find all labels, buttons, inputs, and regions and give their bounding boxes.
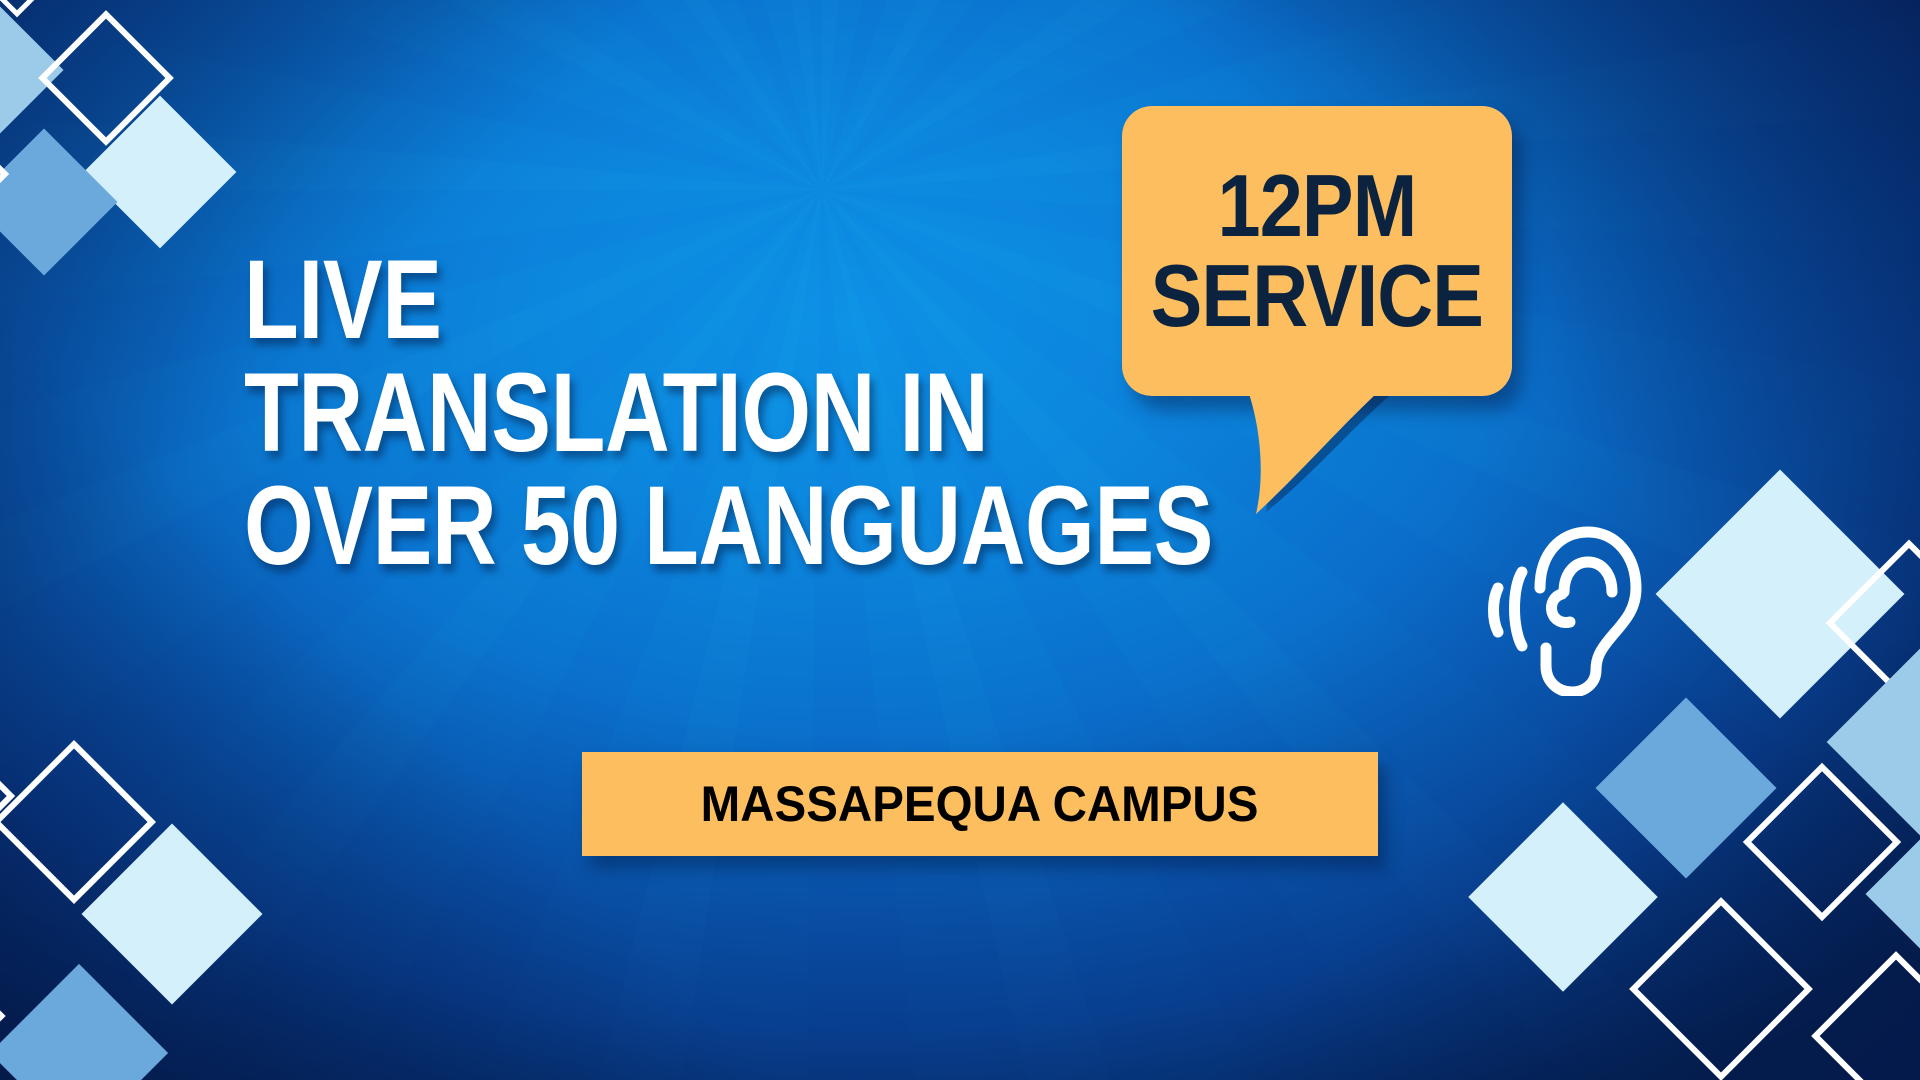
service-time-badge: 12PM SERVICE (1122, 106, 1522, 506)
headline-line-3: OVER 50 LANGUAGES (244, 474, 1252, 577)
deco-square (0, 964, 168, 1080)
ear-hearing-icon (1484, 518, 1652, 696)
badge-body: 12PM SERVICE (1122, 106, 1512, 396)
deco-square-outline (1811, 951, 1920, 1080)
deco-square (0, 128, 118, 275)
deco-square-outline (1629, 897, 1813, 1080)
deco-square-outline (0, 717, 15, 875)
deco-square-outline (0, 0, 69, 17)
campus-label: MASSAPEQUA CAMPUS (701, 775, 1259, 833)
deco-square (1468, 802, 1658, 992)
headline-line-2: TRANSLATION IN (244, 361, 1252, 464)
promo-banner: LIVE TRANSLATION IN OVER 50 LANGUAGES 12… (0, 0, 1920, 1080)
deco-square (1595, 697, 1776, 878)
headline-line-1: LIVE (244, 248, 1252, 351)
decorative-squares-bottom-left (0, 720, 360, 1080)
campus-banner: MASSAPEQUA CAMPUS (582, 752, 1378, 856)
badge-time-label: 12PM (1218, 162, 1417, 250)
badge-service-label: SERVICE (1151, 252, 1483, 340)
